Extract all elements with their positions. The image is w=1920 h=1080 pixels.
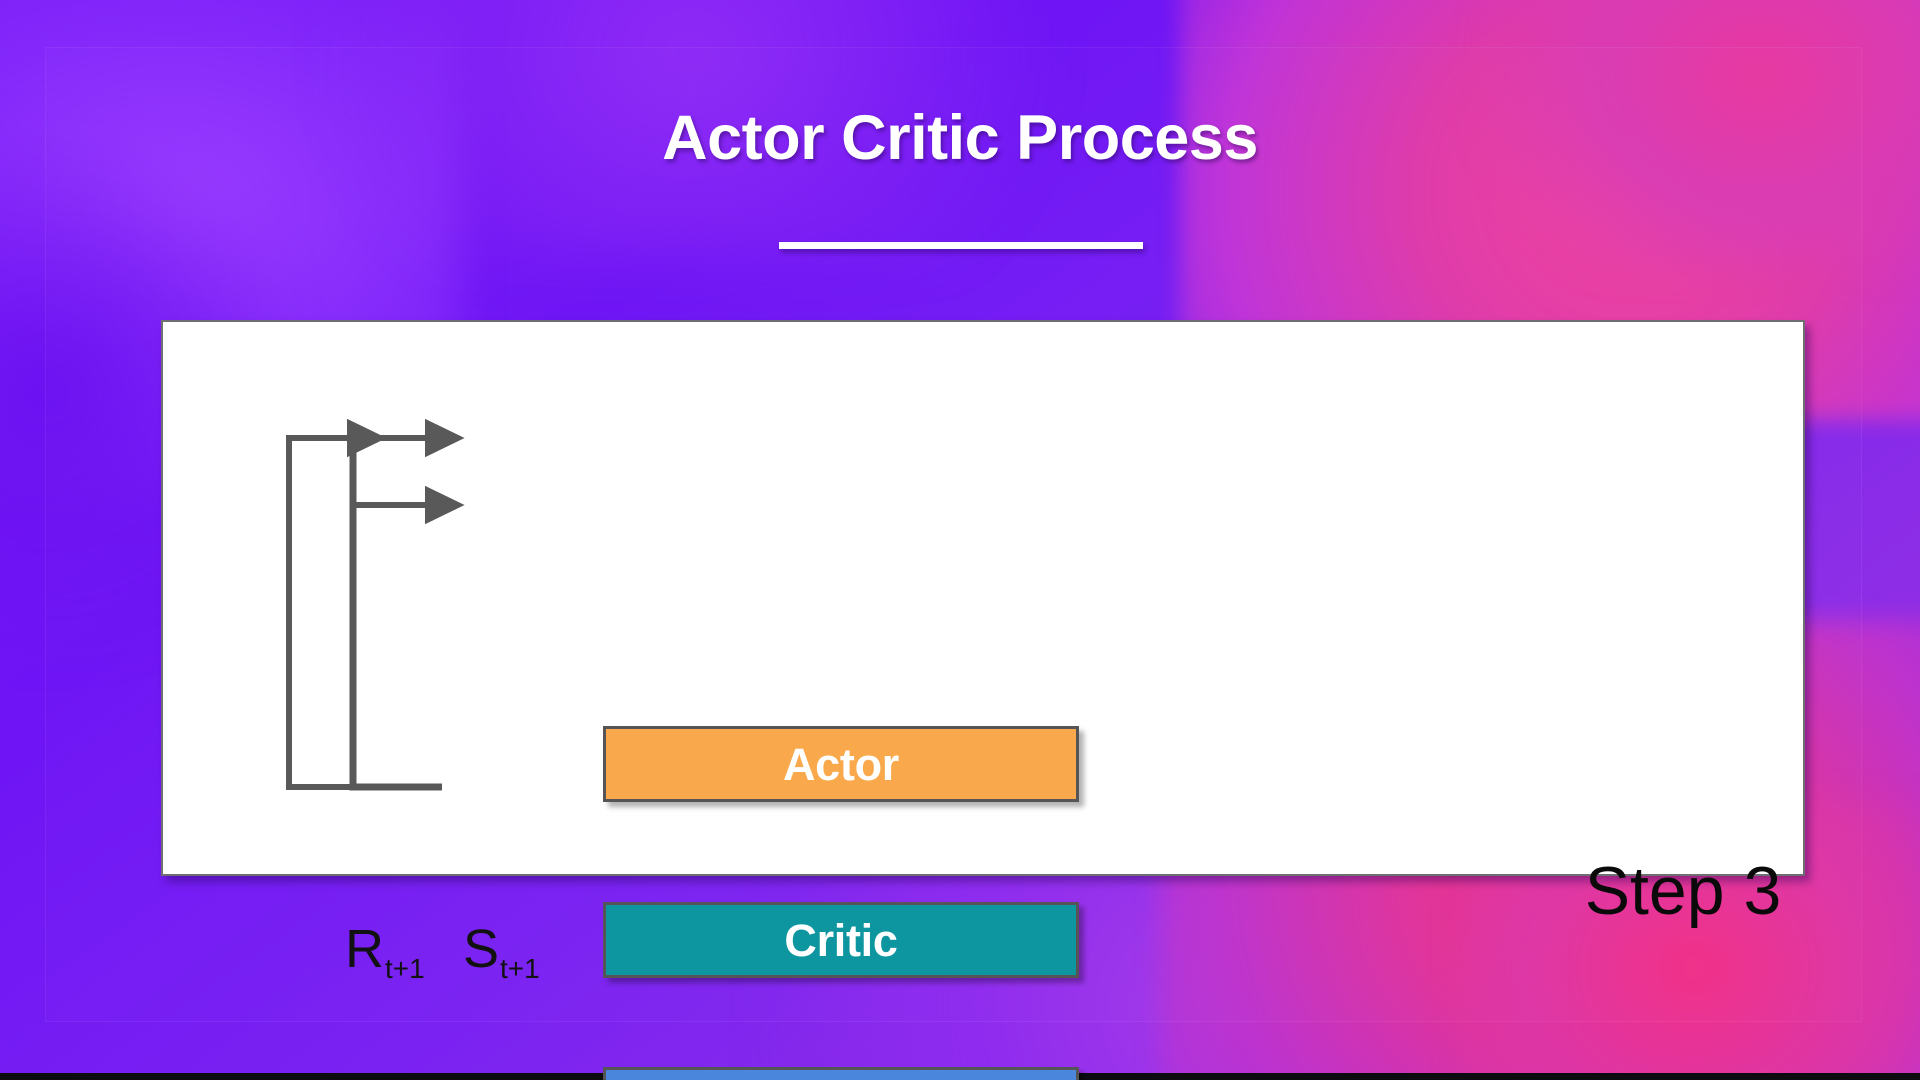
step-label: Step 3 [1473, 857, 1893, 925]
edge-label-reward-subscript: t+1 [385, 953, 425, 984]
edge-label-state-subscript: t+1 [500, 953, 540, 984]
diagram-node-critic-label: Critic [784, 918, 897, 963]
edge-state-trunk [353, 438, 442, 787]
diagram-node-environment[interactable]: Environment [603, 1067, 1079, 1080]
diagram-node-critic[interactable]: Critic [603, 902, 1079, 978]
diagram-node-actor-label: Actor [783, 742, 899, 787]
edge-label-state-symbol: S [463, 919, 499, 979]
edge-label-state: St+1 [463, 922, 539, 976]
slide-title: Actor Critic Process [0, 102, 1920, 174]
title-underline [779, 242, 1143, 249]
slide-content: Actor Critic Process [0, 0, 1920, 1080]
edge-label-reward-symbol: R [345, 919, 384, 979]
diagram-node-actor[interactable]: Actor [603, 726, 1079, 802]
content-panel: Rt+1 St+1 Actor Critic Environment Step … [161, 320, 1805, 876]
edge-label-reward: Rt+1 [345, 922, 424, 976]
edge-reward-to-actor [289, 438, 442, 787]
